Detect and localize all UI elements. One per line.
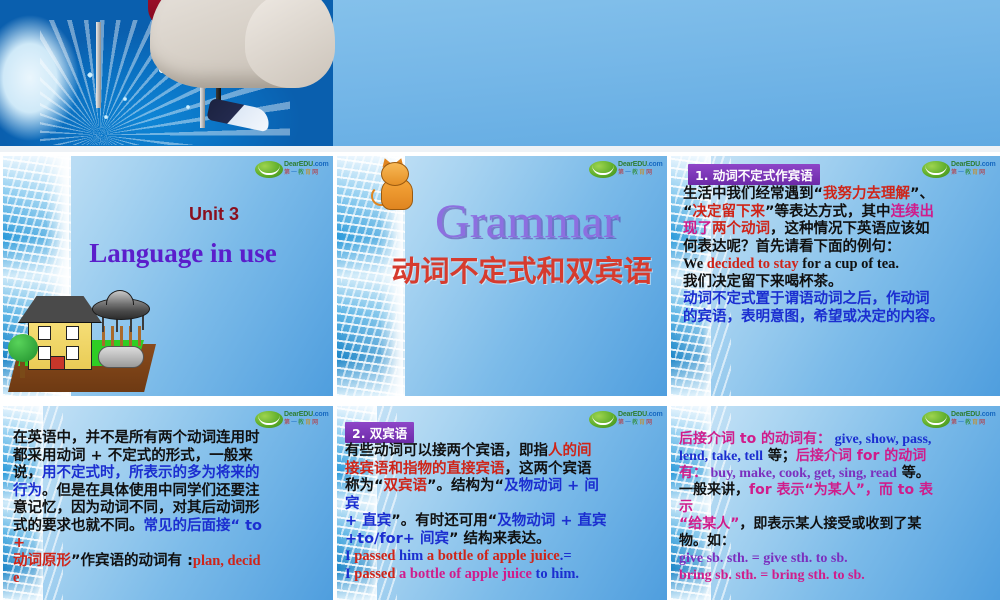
text-run: 两个动词 bbox=[712, 221, 770, 237]
banner-photo bbox=[0, 0, 333, 146]
banner-bottom-strip bbox=[0, 146, 1000, 152]
ufo-beam bbox=[102, 316, 104, 332]
text-run: 动词原形 bbox=[13, 553, 71, 569]
text-line: + 直宾”。有时还可用“及物动词 + 直宾 bbox=[345, 513, 665, 530]
text-run: for 表示“为某人”，而 to 表 bbox=[749, 482, 933, 498]
text-run: I bbox=[345, 566, 354, 582]
logo-subtext: 第一教育网 bbox=[951, 169, 986, 177]
clipart-window bbox=[66, 326, 79, 340]
text-run: 及物动词 + 直宾 bbox=[497, 513, 606, 529]
text-line: 生活中我们经常遇到“我努力去理解”、 bbox=[683, 186, 999, 203]
unit-label: Unit 3 bbox=[119, 204, 309, 225]
text-run: 宾 bbox=[345, 496, 360, 512]
text-run: give sb. sth. = give sth. to sb. bbox=[679, 551, 848, 566]
text-run: 都采用动词 + 不定式的形式，一般来 bbox=[13, 448, 253, 464]
text-run: passed bbox=[354, 566, 395, 582]
slide-body-text: 后接介词 to 的动词有： give, show, pass,lend, tak… bbox=[679, 432, 999, 585]
text-line: 在英语中，并不是所有两个动词连用时 bbox=[13, 430, 331, 447]
slide-body-text: 在英语中，并不是所有两个动词连用时都采用动词 + 不定式的形式，一般来说，用不定… bbox=[13, 430, 331, 588]
text-line: We decided to stay for a cup of tea. bbox=[683, 256, 999, 273]
title-slide[interactable]: DearEDU.com 第一教育网 Unit 3 Language in use bbox=[3, 156, 333, 396]
text-run: him bbox=[395, 548, 426, 564]
text-run: passed bbox=[354, 548, 395, 564]
text-run: 有： bbox=[679, 465, 707, 481]
text-run: ，即表示某人接受或收到了某 bbox=[739, 516, 921, 532]
slide-body-text: 生活中我们经常遇到“我努力去理解”、“决定留下来”等表达方式，其中连续出现了两个… bbox=[683, 186, 999, 326]
clipart-door bbox=[50, 356, 65, 370]
text-run: 用不定式时，所表示的多为将来的 bbox=[42, 465, 260, 481]
text-line: 何表达呢？首先请看下面的例句： bbox=[683, 239, 999, 256]
logo-subtext: 第一教育网 bbox=[618, 419, 653, 427]
text-line: 一般来讲，for 表示“为某人”，而 to 表 bbox=[679, 483, 999, 499]
text-run: 连续出 bbox=[891, 204, 935, 220]
text-run: .= bbox=[560, 548, 572, 564]
text-run: ”、 bbox=[910, 186, 934, 202]
text-line: 说，用不定式时，所表示的多为将来的 bbox=[13, 465, 331, 482]
text-run: 我努力去理解 bbox=[823, 186, 910, 202]
text-run: ，这种情况下英语应该如 bbox=[770, 221, 930, 237]
logo-text: DearEDU.com bbox=[951, 160, 996, 169]
text-line: bring sb. sth. = bring sth. to sb. bbox=[679, 568, 999, 584]
logo-text: DearEDU.com bbox=[284, 160, 329, 169]
text-line: I passed a bottle of apple juice to him. bbox=[345, 566, 665, 583]
slide-title: Language in use bbox=[43, 238, 323, 269]
logo-subtext: 第一教育网 bbox=[951, 419, 986, 427]
text-line: 都采用动词 + 不定式的形式，一般来 bbox=[13, 448, 331, 465]
text-run: give, show, pass, bbox=[831, 432, 931, 447]
text-run: 后接介词 for 的动词 bbox=[796, 448, 926, 464]
text-line: 后接介词 to 的动词有： give, show, pass, bbox=[679, 432, 999, 448]
text-line: lend, take, tell 等；后接介词 for 的动词 bbox=[679, 449, 999, 465]
section-badge: 2. 双宾语 bbox=[345, 422, 414, 443]
clipart-window bbox=[38, 326, 51, 340]
text-line: 我们决定留下来喝杯茶。 bbox=[683, 274, 999, 291]
text-line: 有些动词可以接两个宾语，即指人的间 bbox=[345, 443, 665, 460]
text-run: 。但是在具体使用中同学们还要注 bbox=[42, 483, 260, 499]
prepositions-to-for-slide[interactable]: DearEDU.com 第一教育网 后接介词 to 的动词有： give, sh… bbox=[671, 406, 1000, 600]
clipart-fence bbox=[102, 326, 142, 346]
logo-text: DearEDU.com bbox=[618, 410, 663, 419]
text-line: + bbox=[13, 535, 331, 552]
text-run: 示 bbox=[679, 499, 693, 515]
text-run: “ bbox=[683, 204, 693, 220]
double-object-slide[interactable]: DearEDU.com 第一教育网 2. 双宾语 有些动词可以接两个宾语，即指人… bbox=[337, 406, 667, 600]
text-line: “决定留下来”等表达方式，其中连续出 bbox=[683, 204, 999, 221]
text-line: give sb. sth. = give sth. to sb. bbox=[679, 551, 999, 567]
dearedu-logo: DearEDU.com 第一教育网 bbox=[922, 410, 994, 429]
text-run: 式的要求也就不同。 bbox=[13, 518, 144, 534]
text-line: 式的要求也就不同。常见的后面接“ to bbox=[13, 518, 331, 535]
logo-text: DearEDU.com bbox=[284, 410, 329, 419]
text-run: ”。有时还可用“ bbox=[391, 513, 497, 529]
text-run: 一般来讲， bbox=[679, 482, 749, 498]
text-run: 在英语中，并不是所有两个动词连用时 bbox=[13, 430, 260, 446]
verb-plus-infinitive-slide[interactable]: DearEDU.com 第一教育网 在英语中，并不是所有两个动词连用时都采用动词… bbox=[3, 406, 333, 600]
text-run: +to/for+ 间宾 bbox=[345, 531, 449, 547]
text-run: I bbox=[345, 548, 354, 564]
text-run: ”等表达方式，其中 bbox=[765, 204, 891, 220]
text-run: to him. bbox=[536, 566, 580, 582]
text-run: 生活中我们经常遇到“ bbox=[683, 186, 823, 202]
text-line: 接宾语和指物的直接宾语，这两个宾语 bbox=[345, 461, 665, 478]
text-run: 物。如： bbox=[679, 533, 735, 549]
text-run: 意记忆，因为动词不同，对其后动词形 bbox=[13, 500, 260, 516]
text-line: +to/for+ 间宾” 结构来表达。 bbox=[345, 531, 665, 548]
text-line: 动词不定式置于谓语动词之后，作动词 bbox=[683, 291, 999, 308]
text-line: 有： buy, make, cook, get, sing, read 等。 bbox=[679, 466, 999, 482]
text-run: 接宾语和指物的直接宾语 bbox=[345, 461, 505, 477]
text-line: 称为“双宾语”。结构为“及物动词 + 间 bbox=[345, 478, 665, 495]
ufo-dome bbox=[106, 290, 134, 305]
text-run: ” 结构来表达。 bbox=[449, 531, 551, 547]
text-run: 人的间 bbox=[548, 443, 592, 459]
logo-subtext: 第一教育网 bbox=[284, 169, 319, 177]
text-run: 说， bbox=[13, 465, 42, 481]
text-line: 行为。但是在具体使用中同学们还要注 bbox=[13, 483, 331, 500]
text-run: ”。结构为“ bbox=[427, 478, 504, 494]
clipart-roof bbox=[18, 296, 102, 323]
dearedu-logo: DearEDU.com 第一教育网 bbox=[255, 410, 327, 429]
dearedu-logo: DearEDU.com 第一教育网 bbox=[589, 160, 661, 179]
dearedu-logo: DearEDU.com 第一教育网 bbox=[922, 160, 994, 179]
text-run: 现了 bbox=[683, 221, 712, 237]
text-run: ”作宾语的动词有 : bbox=[71, 553, 193, 569]
text-run: 等。 bbox=[897, 465, 930, 481]
text-run: + bbox=[13, 535, 25, 551]
text-line: 动词原形”作宾语的动词有 :plan, decid bbox=[13, 553, 331, 570]
text-line: 物。如： bbox=[679, 534, 999, 550]
house-ufo-clipart bbox=[6, 282, 166, 396]
slide-body-text: 有些动词可以接两个宾语，即指人的间接宾语和指物的直接宾语，这两个宾语称为“双宾语… bbox=[345, 443, 665, 583]
section-badge: 1. 动词不定式作宾语 bbox=[688, 164, 820, 185]
text-line: 现了两个动词，这种情况下英语应该如 bbox=[683, 221, 999, 238]
cat-head bbox=[381, 162, 409, 186]
text-run: 等； bbox=[763, 448, 796, 464]
text-run: bring sb. sth. = bring sth. to sb. bbox=[679, 568, 865, 583]
logo-text: DearEDU.com bbox=[951, 410, 996, 419]
text-run: e bbox=[13, 570, 19, 586]
text-line: “给某人”，即表示某人接受或收到了某 bbox=[679, 517, 999, 533]
dearedu-logo: DearEDU.com 第一教育网 bbox=[255, 160, 327, 179]
logo-subtext: 第一教育网 bbox=[618, 169, 653, 177]
logo-text: DearEDU.com bbox=[618, 160, 663, 169]
logo-subtext: 第一教育网 bbox=[284, 419, 319, 427]
text-run: We bbox=[683, 256, 707, 272]
slide-grid: DearEDU.com 第一教育网 Unit 3 Language in use bbox=[0, 0, 1000, 600]
text-run: lend, take, tell bbox=[679, 449, 763, 464]
clipart-rocks bbox=[98, 346, 144, 368]
text-run: 行为 bbox=[13, 483, 42, 499]
text-run: 有些动词可以接两个宾语，即指 bbox=[345, 443, 548, 459]
text-line: I passed him a bottle of apple juice.= bbox=[345, 548, 665, 565]
grammar-title-slide[interactable]: DearEDU.com 第一教育网 Grammar 动词不定式和双宾语 bbox=[337, 156, 667, 396]
clipart-tree bbox=[8, 334, 38, 362]
clipart-window bbox=[66, 346, 79, 360]
text-line: 意记忆，因为动词不同，对其后动词形 bbox=[13, 500, 331, 517]
stool-leg-left bbox=[96, 22, 101, 108]
person-knee bbox=[245, 0, 335, 88]
text-run: “给某人” bbox=[679, 516, 739, 532]
text-line: 示 bbox=[679, 500, 999, 516]
text-line: 宾 bbox=[345, 496, 665, 513]
text-run: a bottle of apple juice bbox=[395, 566, 535, 582]
text-run: buy, make, cook, get, sing, read bbox=[707, 466, 897, 481]
text-run: 称为“ bbox=[345, 478, 384, 494]
text-run: plan, decid bbox=[193, 553, 261, 569]
infinitive-as-object-slide[interactable]: DearEDU.com 第一教育网 1. 动词不定式作宾语 生活中我们经常遇到“… bbox=[671, 156, 1000, 396]
text-line: e bbox=[13, 570, 331, 587]
text-run: 常见的后面接“ to bbox=[144, 518, 262, 534]
text-run: a bottle of apple juice bbox=[427, 548, 560, 564]
text-run: 决定留下来 bbox=[693, 204, 766, 220]
text-run: ，这两个宾语 bbox=[505, 461, 592, 477]
grammar-subtitle: 动词不定式和双宾语 bbox=[377, 248, 667, 290]
grammar-title: Grammar bbox=[387, 196, 667, 248]
banner-photo-slide[interactable] bbox=[0, 0, 1000, 152]
text-run: decided to stay bbox=[707, 256, 799, 272]
text-run: 及物动词 + 间 bbox=[504, 478, 599, 494]
text-run: 后接介词 to 的动词有： bbox=[679, 431, 831, 447]
text-line: 的宾语，表明意图，希望或决定的内容。 bbox=[683, 309, 999, 326]
text-run: + 直宾 bbox=[345, 513, 391, 529]
text-run: 双宾语 bbox=[384, 478, 428, 494]
text-run: 动词不定式置于谓语动词之后，作动词 bbox=[683, 291, 930, 307]
text-run: for a cup of tea. bbox=[799, 256, 899, 272]
text-run: 的宾语，表明意图，希望或决定的内容。 bbox=[683, 309, 944, 325]
text-run: 我们决定留下来喝杯茶。 bbox=[683, 274, 843, 290]
text-run: 何表达呢？首先请看下面的例句： bbox=[683, 239, 901, 255]
dearedu-logo: DearEDU.com 第一教育网 bbox=[589, 410, 661, 429]
